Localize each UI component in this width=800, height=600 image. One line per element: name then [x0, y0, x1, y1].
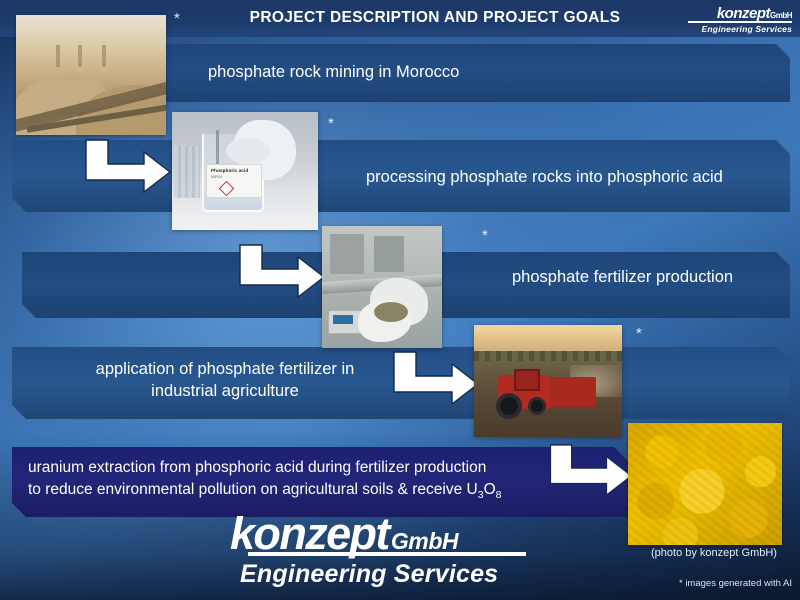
arrow-step4-to-step5: [546, 443, 636, 499]
hazard-diamond-icon: [219, 181, 235, 197]
step-label-3: phosphate fertilizer production: [512, 266, 733, 288]
step-label-5-pre: to reduce environmental pollution on agr…: [28, 481, 478, 498]
ai-disclaimer: * images generated with AI: [560, 578, 792, 589]
footer-logo-underline: [248, 552, 526, 556]
asterisk-step2: *: [328, 116, 334, 131]
tractor-field-photo: [474, 325, 622, 437]
slide-canvas: * PROJECT DESCRIPTION AND PROJECT GOALS …: [0, 0, 800, 600]
photo-credit: (photo by konzept GmbH): [630, 547, 798, 559]
step-label-4-line1: application of phosphate fertilizer in: [60, 358, 390, 380]
step-label-5-sub2: 8: [496, 490, 502, 502]
header-logo-name: konzept: [717, 5, 770, 22]
phosphate-rock-mine-photo: [16, 15, 166, 135]
step-label-4: application of phosphate fertilizer in i…: [60, 358, 390, 403]
fertilizer-production-photo: [322, 226, 442, 348]
arrow-step2-to-step3: [236, 243, 328, 301]
beaker-label: Phosphoric acid H3PO4: [206, 164, 262, 198]
step-label-4-line2: industrial agriculture: [60, 380, 390, 402]
header-asterisk: *: [174, 10, 180, 27]
page-title: PROJECT DESCRIPTION AND PROJECT GOALS: [200, 9, 670, 27]
footer-logo: konzeptGmbH Engineering Services: [230, 508, 550, 590]
phosphoric-acid-beaker-photo: Phosphoric acid H3PO4: [172, 112, 318, 230]
asterisk-step4: *: [636, 326, 642, 341]
header-logo: konzeptGmbH Engineering Services: [688, 6, 792, 33]
step-label-5-line1: uranium extraction from phosphoric acid …: [28, 457, 502, 479]
arrow-step3-to-step4: [390, 350, 482, 408]
beaker-label-title: Phosphoric acid: [211, 168, 261, 173]
yellowcake-photo: [628, 423, 782, 545]
step-label-5: uranium extraction from phosphoric acid …: [28, 457, 502, 504]
step-label-5-mid: O: [484, 481, 496, 498]
step-label-1: phosphate rock mining in Morocco: [208, 61, 459, 83]
header-logo-tagline: Engineering Services: [688, 25, 792, 34]
footer-logo-tagline: Engineering Services: [240, 560, 498, 589]
beaker-label-formula: H3PO4: [211, 175, 261, 179]
arrow-step1-to-step2: [82, 138, 174, 196]
footer-logo-suffix: GmbH: [391, 528, 458, 554]
step-label-5-line2: to reduce environmental pollution on agr…: [28, 479, 502, 503]
step-label-2: processing phosphate rocks into phosphor…: [366, 166, 723, 188]
header-logo-suffix: GmbH: [770, 11, 792, 20]
asterisk-step3: *: [482, 228, 488, 243]
